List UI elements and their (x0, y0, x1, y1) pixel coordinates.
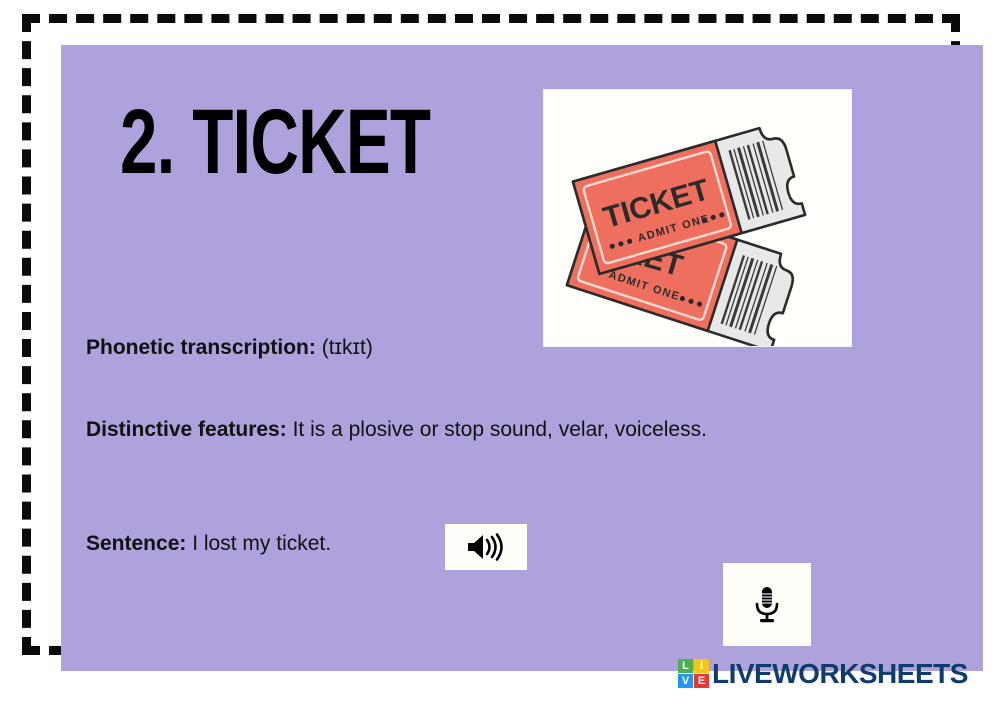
ticket-image-card: KET ADMIT ONE (544, 90, 851, 346)
microphone-icon (752, 585, 782, 625)
logo-letter-e: E (694, 674, 709, 688)
phonetic-transcription-line: Phonetic transcription: (tɪkɪt) (86, 332, 546, 364)
phonetic-transcription-value: (tɪkɪt) (322, 336, 373, 359)
liveworksheets-logo: L I V E LIVEWORKSHEETS (678, 659, 968, 688)
speaker-icon (465, 532, 507, 562)
phonetic-transcription-label: Phonetic transcription: (86, 336, 316, 359)
distinctive-features-line: Distinctive features: It is a plosive or… (86, 414, 846, 446)
logo-letter-v: V (678, 674, 693, 688)
logo-letter-l: L (678, 659, 693, 673)
play-audio-button[interactable] (445, 524, 527, 570)
record-audio-button[interactable] (723, 563, 811, 646)
logo-letter-i: I (694, 659, 709, 673)
page-title: 2. TICKET (120, 97, 464, 189)
sentence-line: Sentence: I lost my ticket. (86, 528, 446, 560)
distinctive-features-label: Distinctive features: (86, 418, 287, 441)
sentence-value: I lost my ticket. (192, 532, 331, 555)
liveworksheets-logo-mark: L I V E (678, 659, 709, 688)
liveworksheets-wordmark: LIVEWORKSHEETS (712, 660, 968, 688)
ticket-illustration: KET ADMIT ONE (544, 90, 851, 346)
sentence-label: Sentence: (86, 532, 186, 555)
distinctive-features-value: It is a plosive or stop sound, velar, vo… (293, 418, 707, 441)
